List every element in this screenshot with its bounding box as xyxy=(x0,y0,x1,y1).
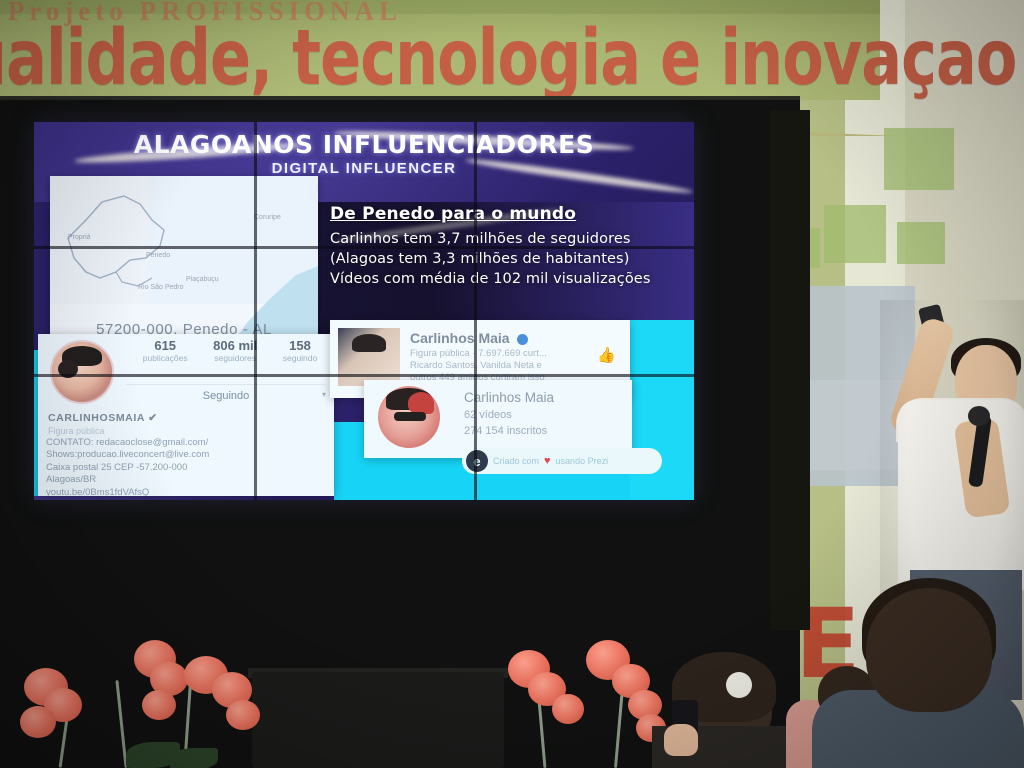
facebook-meta-line-2: Ricardo Santos, Vanilda Neta e xyxy=(410,360,600,372)
orchid-bloom-12 xyxy=(552,694,584,724)
stat-posts-label: publicações xyxy=(143,353,188,363)
youtube-avatar xyxy=(378,386,440,448)
facebook-page-name: Carlinhos Maia xyxy=(410,330,528,346)
orchid-bloom-3 xyxy=(20,706,56,738)
instagram-stat-posts: 615 publicações xyxy=(143,338,188,363)
videowall-bezel-h2 xyxy=(34,374,694,377)
bio-line-4: Alagoas/BR xyxy=(46,474,328,486)
instagram-username-text: CARLINHOSMAIA xyxy=(48,412,145,424)
facebook-name-text: Carlinhos Maia xyxy=(410,330,510,346)
instagram-profile-card: 615 publicações 806 mil seguidores 158 s… xyxy=(38,334,334,496)
prezi-badge-text: Criado com xyxy=(493,456,539,466)
videowall-bezel-v2 xyxy=(474,122,477,500)
bullet-line-2: (Alagoas tem 3,3 milhões de habitantes) xyxy=(330,249,670,269)
instagram-avatar xyxy=(50,340,114,404)
map-label-piacabucu: Piaçabuçu xyxy=(186,276,219,283)
microphone-head xyxy=(968,406,990,426)
facebook-meta: Figura pública · 7.697.669 curt... Ricar… xyxy=(410,348,600,384)
instagram-username: CARLINHOSMAIA ✔ xyxy=(48,412,158,424)
instagram-stat-followers: 806 mil seguidores xyxy=(213,338,257,363)
podium-lectern xyxy=(252,672,504,768)
map-label-propria: Propriá xyxy=(68,234,91,241)
stat-followers-label: seguidores xyxy=(213,353,257,363)
orchid-bloom-9 xyxy=(226,700,260,730)
banner-main-text: ualidade, tecnologia e inovaçao xyxy=(0,18,905,99)
verified-badge-icon: ✔ xyxy=(148,412,157,424)
youtube-video-count: 62 vídeos xyxy=(464,409,512,421)
instagram-stat-following: 158 seguindo xyxy=(283,338,318,363)
wall-square-3 xyxy=(897,222,945,264)
stat-followers-value: 806 mil xyxy=(213,338,257,353)
youtube-channel-card: Carlinhos Maia 62 vídeos 274 154 inscrit… xyxy=(364,380,632,458)
youtube-avatar-red-hat xyxy=(408,392,434,414)
facebook-thumbnail xyxy=(338,328,400,386)
youtube-channel-name: Carlinhos Maia xyxy=(464,390,554,405)
map-label-riosaopedro: Rio São Pedro xyxy=(138,284,184,291)
facebook-verified-icon xyxy=(517,334,528,345)
map-label-penedo: Penedo xyxy=(146,252,170,259)
instagram-bio: CONTATO: redacaoclose@gmail.com/ Shows:p… xyxy=(46,437,328,496)
bio-line-2: Shows:producao.liveconcert@live.com xyxy=(46,449,328,461)
audience-hair-tie xyxy=(726,672,752,698)
audience-hand xyxy=(664,724,698,756)
video-wall: ALAGOANOS INFLUENCIADORES DIGITAL INFLUE… xyxy=(34,122,694,500)
slide-subtitle: DIGITAL INFLUENCER xyxy=(34,160,694,177)
facebook-meta-line-1: Figura pública · 7.697.669 curt... xyxy=(410,348,600,360)
instagram-following-button[interactable]: Seguindo xyxy=(126,384,326,405)
orchid-bloom-6 xyxy=(142,690,176,720)
stat-following-value: 158 xyxy=(283,338,318,353)
wall-square-1 xyxy=(884,128,954,190)
bullet-heading: De Penedo para o mundo xyxy=(330,204,670,224)
hall-banner: O Projeto PROFISSIONAL ualidade, tecnolo… xyxy=(0,0,880,100)
prezi-badge[interactable]: e Criado com ♥ usando Prezi xyxy=(462,448,662,474)
conference-photo: O Projeto PROFISSIONAL ualidade, tecnolo… xyxy=(0,0,1024,768)
map-label-coruripe: Coruripe xyxy=(254,214,281,221)
stat-posts-value: 615 xyxy=(143,338,188,353)
videowall-bezel-h1 xyxy=(34,246,694,249)
slide-title: ALAGOANOS INFLUENCIADORES xyxy=(34,130,694,159)
prezi-logo-icon: e xyxy=(466,450,488,472)
backdrop-right-edge xyxy=(770,110,810,630)
heart-icon: ♥ xyxy=(544,455,551,467)
videowall-bezel-v1 xyxy=(254,122,257,500)
facebook-thumb-hat xyxy=(352,334,386,352)
bio-line-5: youtu.be/0Bms1fdVAfsQ xyxy=(46,487,328,496)
orchid-leaf-2 xyxy=(170,748,218,768)
bio-line-1: CONTATO: redacaoclose@gmail.com/ xyxy=(46,437,328,449)
google-map-card: Propriá Coruripe Penedo Piaçabuçu Rio Sã… xyxy=(50,176,318,344)
audience-head-2 xyxy=(866,588,992,712)
chevron-down-icon[interactable]: ▾ xyxy=(322,390,326,399)
instagram-category: Figura pública xyxy=(48,426,105,436)
bullet-line-3: Vídeos com média de 102 mil visualizaçõe… xyxy=(330,269,670,289)
stat-following-label: seguindo xyxy=(283,353,318,363)
wall-square-2 xyxy=(824,205,886,263)
bio-line-3: Caixa postal 25 CEP -57.200-000 xyxy=(46,462,328,474)
thumbs-up-icon[interactable]: 👍 xyxy=(597,346,616,364)
prezi-badge-suffix: usando Prezi xyxy=(556,456,609,466)
instagram-stats-row: 615 publicações 806 mil seguidores 158 s… xyxy=(130,338,330,363)
youtube-avatar-sunglasses xyxy=(394,412,426,421)
